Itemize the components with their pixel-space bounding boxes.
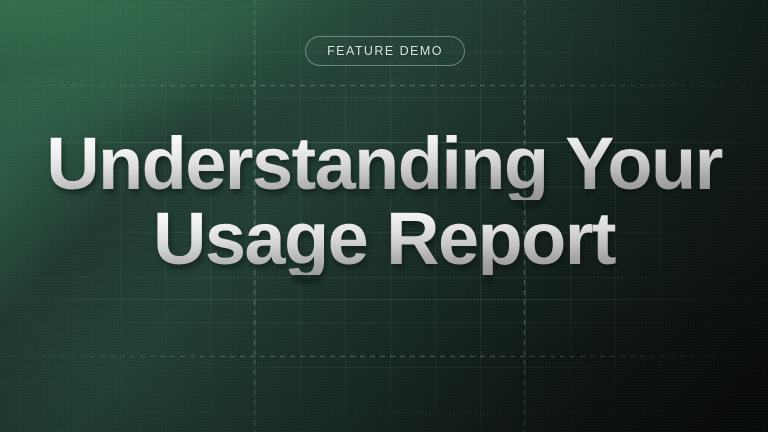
feature-demo-badge: FEATURE DEMO [305, 36, 465, 66]
title-line-2: Usage Report Usage Report [0, 203, 768, 275]
page-title: Understanding Your Understanding Your Us… [0, 128, 768, 275]
title-line-1: Understanding Your Understanding Your [0, 128, 768, 200]
slide-canvas: FEATURE DEMO Understanding Your Understa… [0, 0, 768, 432]
title-line-1-text: Understanding Your [0, 128, 768, 200]
badge-label: FEATURE DEMO [327, 45, 443, 58]
title-line-2-text: Usage Report [0, 203, 768, 275]
